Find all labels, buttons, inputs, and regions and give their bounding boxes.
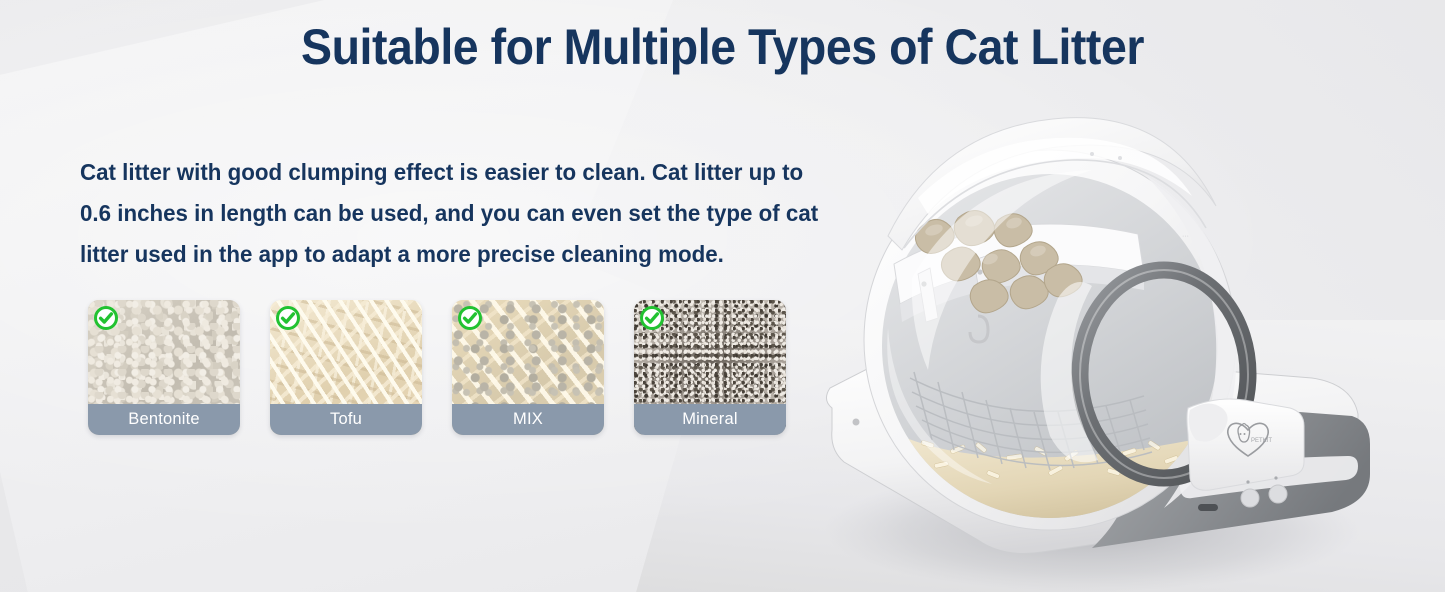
litter-label-bentonite: Bentonite (88, 404, 240, 435)
power-indicator (1246, 480, 1249, 483)
litter-type-list: Bentonite Tofu MIX Mineral (88, 300, 786, 435)
product-image: ··· PETKIT (792, 78, 1445, 592)
litter-label-mineral: Mineral (634, 404, 786, 435)
litter-card-mineral[interactable]: Mineral (634, 300, 786, 435)
marketing-banner: Suitable for Multiple Types of Cat Litte… (0, 0, 1445, 592)
svg-text:PETKIT: PETKIT (1251, 438, 1272, 444)
page-title: Suitable for Multiple Types of Cat Litte… (51, 18, 1395, 76)
check-icon (93, 305, 119, 331)
litter-card-bentonite[interactable]: Bentonite (88, 300, 240, 435)
shell-marking: ··· (1182, 233, 1189, 240)
description-text: Cat litter with good clumping effect is … (80, 152, 840, 275)
power-button[interactable] (1241, 489, 1259, 507)
litter-card-mix[interactable]: MIX (452, 300, 604, 435)
litter-label-mix: MIX (452, 404, 604, 435)
check-icon (275, 305, 301, 331)
mode-button[interactable] (1269, 485, 1287, 503)
check-icon (639, 305, 665, 331)
litter-label-tofu: Tofu (270, 404, 422, 435)
mode-indicator (1274, 476, 1277, 479)
usb-c-port (1198, 504, 1218, 511)
check-icon (457, 305, 483, 331)
base-latch-dot (853, 419, 860, 426)
litter-card-tofu[interactable]: Tofu (270, 300, 422, 435)
